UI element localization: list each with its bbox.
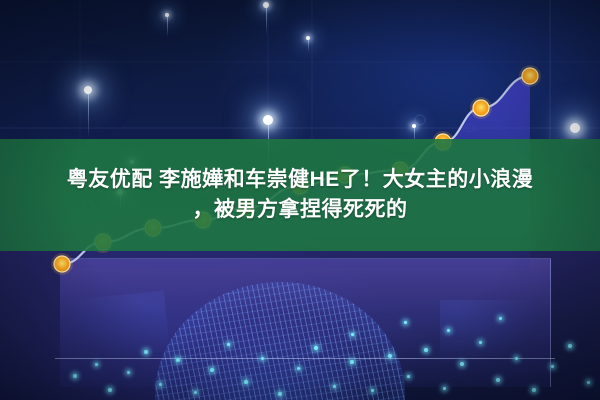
- promo-banner-image: 粤友优配 李施嬅和车崇健HE了！大女主的小浪漫 ，被男方拿捏得死死的: [0, 0, 600, 400]
- vignette-overlay: [0, 0, 600, 400]
